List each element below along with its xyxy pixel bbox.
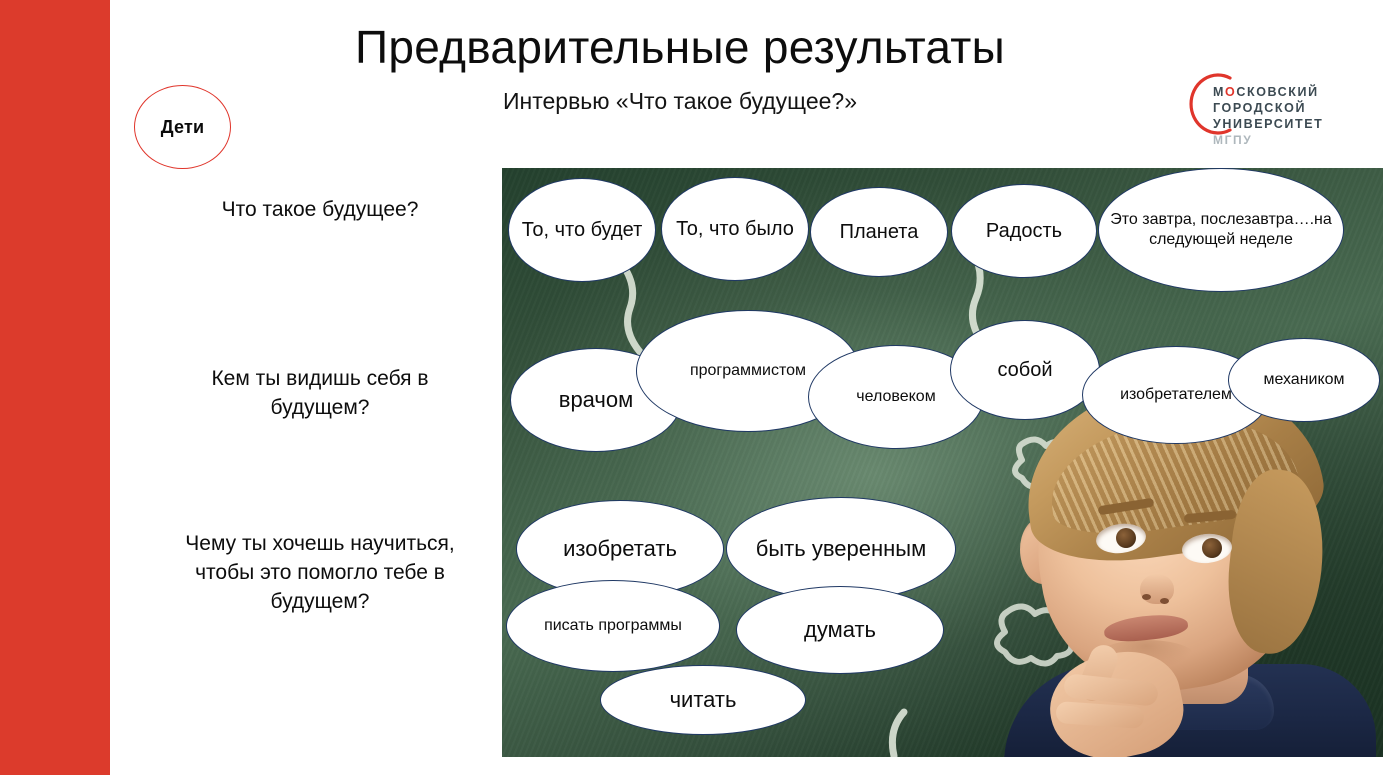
boy-iris-left [1116,528,1136,548]
answer-bubble: То, что будет [508,178,656,282]
answer-bubble: механиком [1228,338,1380,422]
page-subtitle: Интервью «Что такое будущее?» [270,88,1090,116]
answer-bubble: Радость [951,184,1097,278]
slide-canvas: Дети Предварительные результаты Интервью… [0,0,1387,775]
logo-line-1: МОСКОВСКИЙ [1213,84,1323,100]
answer-bubble: думать [736,586,944,674]
question-label-2: Кем ты видишь себя в будущем? [175,365,465,423]
question-label-1: Что такое будущее? [175,196,465,225]
question-label-3: Чему ты хочешь научиться, чтобы это помо… [175,530,465,617]
page-title: Предварительные результаты [270,22,1090,74]
boy-iris-right [1202,538,1222,558]
logo-text-block: МОСКОВСКИЙ ГОРОДСКОЙ УНИВЕРСИТЕТ МГПУ [1213,84,1323,148]
logo-line-3: УНИВЕРСИТЕТ [1213,116,1323,132]
logo-line-2: ГОРОДСКОЙ [1213,100,1323,116]
logo-line-4: МГПУ [1213,132,1323,148]
answer-bubble: То, что было [661,177,809,281]
answer-bubble: писать программы [506,580,720,672]
answer-bubble: собой [950,320,1100,420]
boy-nostril-left [1142,594,1151,600]
boy-nostril-right [1160,598,1169,604]
answer-bubble: Планета [810,187,948,277]
audience-badge-label: Дети [161,117,205,138]
left-red-accent-bar [0,0,110,775]
answer-bubble: Это завтра, послезавтра….на следующей не… [1098,168,1344,292]
audience-badge-deti: Дети [134,85,231,169]
mgpu-logo: МОСКОВСКИЙ ГОРОДСКОЙ УНИВЕРСИТЕТ МГПУ [1183,68,1363,168]
answer-bubble: читать [600,665,806,735]
